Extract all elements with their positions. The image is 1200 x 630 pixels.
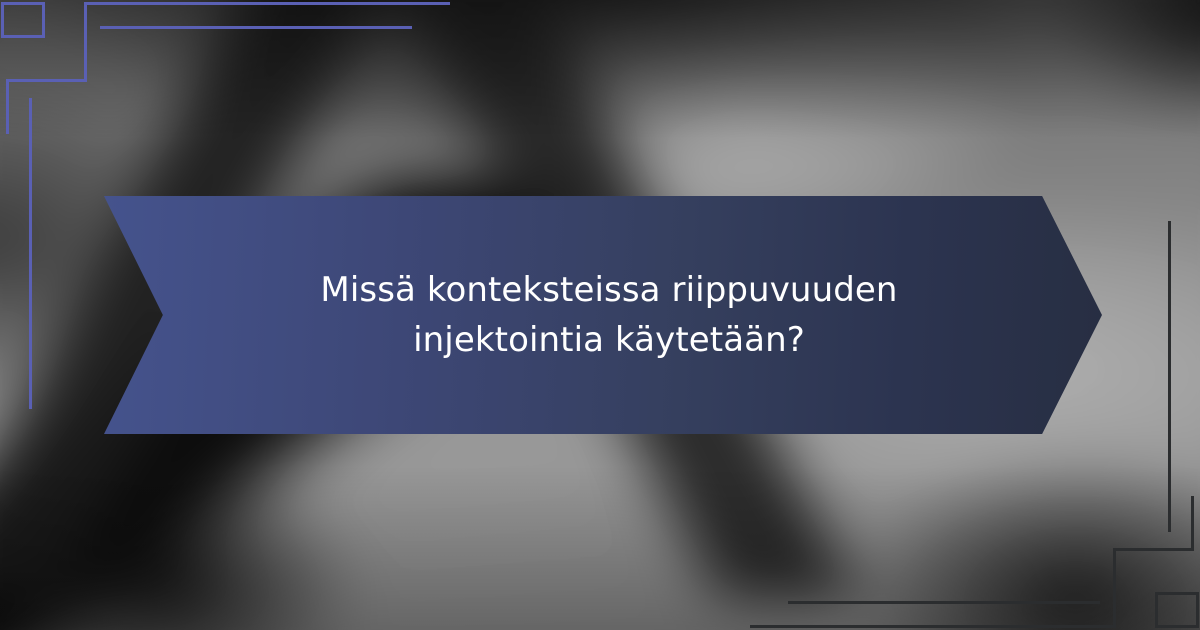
corner-square-icon bbox=[1155, 592, 1199, 628]
banner-card: Missä konteksteissa riippuvuuden injekto… bbox=[0, 0, 1200, 630]
headline-text: Missä konteksteissa riippuvuuden injekto… bbox=[104, 265, 1102, 366]
corner-line-vertical-1 bbox=[6, 79, 9, 134]
corner-line-elbow-horizontal bbox=[1113, 548, 1194, 551]
headline-banner: Missä konteksteissa riippuvuuden injekto… bbox=[104, 196, 1102, 434]
corner-line-horizontal-1 bbox=[750, 625, 1116, 628]
corner-line-elbow-horizontal bbox=[6, 79, 87, 82]
corner-line-vertical-2 bbox=[1168, 221, 1171, 532]
corner-line-horizontal-2 bbox=[788, 601, 1100, 604]
corner-square-icon bbox=[1, 2, 45, 38]
corner-bracket-top-left bbox=[0, 0, 200, 160]
corner-line-vertical-1 bbox=[1191, 496, 1194, 551]
corner-bracket-bottom-right bbox=[1000, 470, 1200, 630]
corner-line-horizontal-2 bbox=[100, 26, 412, 29]
corner-line-elbow-vertical bbox=[84, 2, 87, 82]
corner-line-elbow-vertical bbox=[1113, 548, 1116, 628]
corner-line-horizontal-1 bbox=[84, 2, 450, 5]
corner-line-vertical-2 bbox=[29, 98, 32, 409]
